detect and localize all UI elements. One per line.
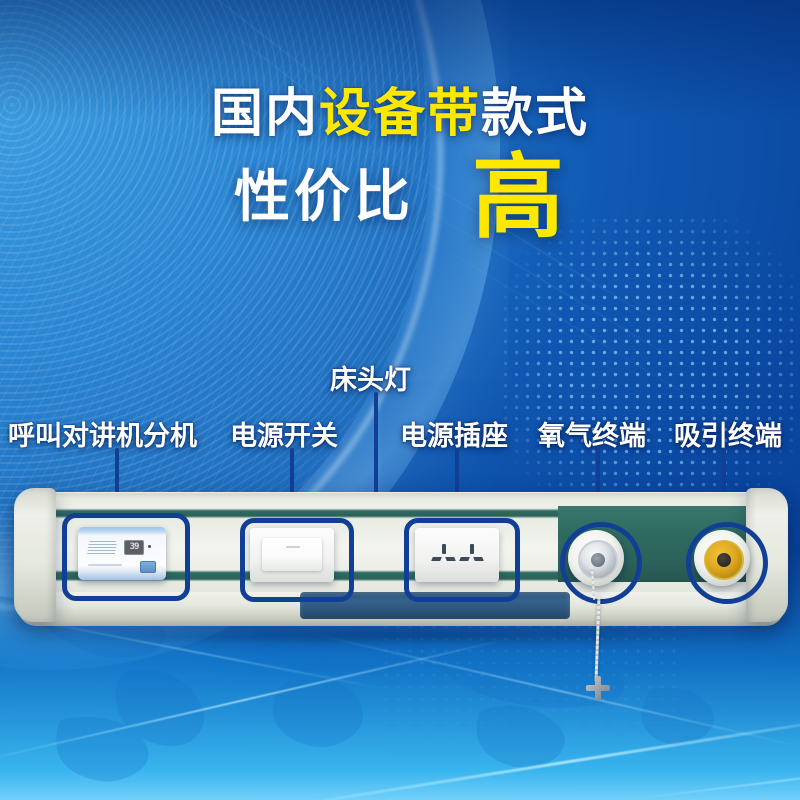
panel-left-end-cap	[14, 488, 56, 622]
callout-circle-oxygen	[560, 522, 642, 604]
callout-label-suction: 吸引终端	[674, 414, 782, 453]
callout-box-switch	[240, 518, 354, 602]
callout-layer: 呼叫对讲机分机 电源开关 床头灯 电源插座 氧气终端 吸引终端	[0, 0, 800, 800]
callout-label-oxygen: 氧气终端	[538, 414, 646, 453]
callout-box-outlet	[404, 518, 520, 602]
callout-label-switch: 电源开关	[230, 414, 338, 453]
callout-box-intercom	[62, 513, 190, 601]
callout-label-intercom: 呼叫对讲机分机	[8, 414, 197, 453]
callout-label-outlet: 电源插座	[400, 414, 508, 453]
pull-cord-pendant-icon[interactable]	[586, 676, 610, 700]
poster-canvas: 国内设备带款式 性价比高 呼叫对讲机分机 电源开关 床头灯 电源插座 氧气终端 …	[0, 0, 800, 800]
callout-label-bedlamp: 床头灯	[330, 358, 411, 397]
callout-circle-suction	[686, 522, 768, 604]
